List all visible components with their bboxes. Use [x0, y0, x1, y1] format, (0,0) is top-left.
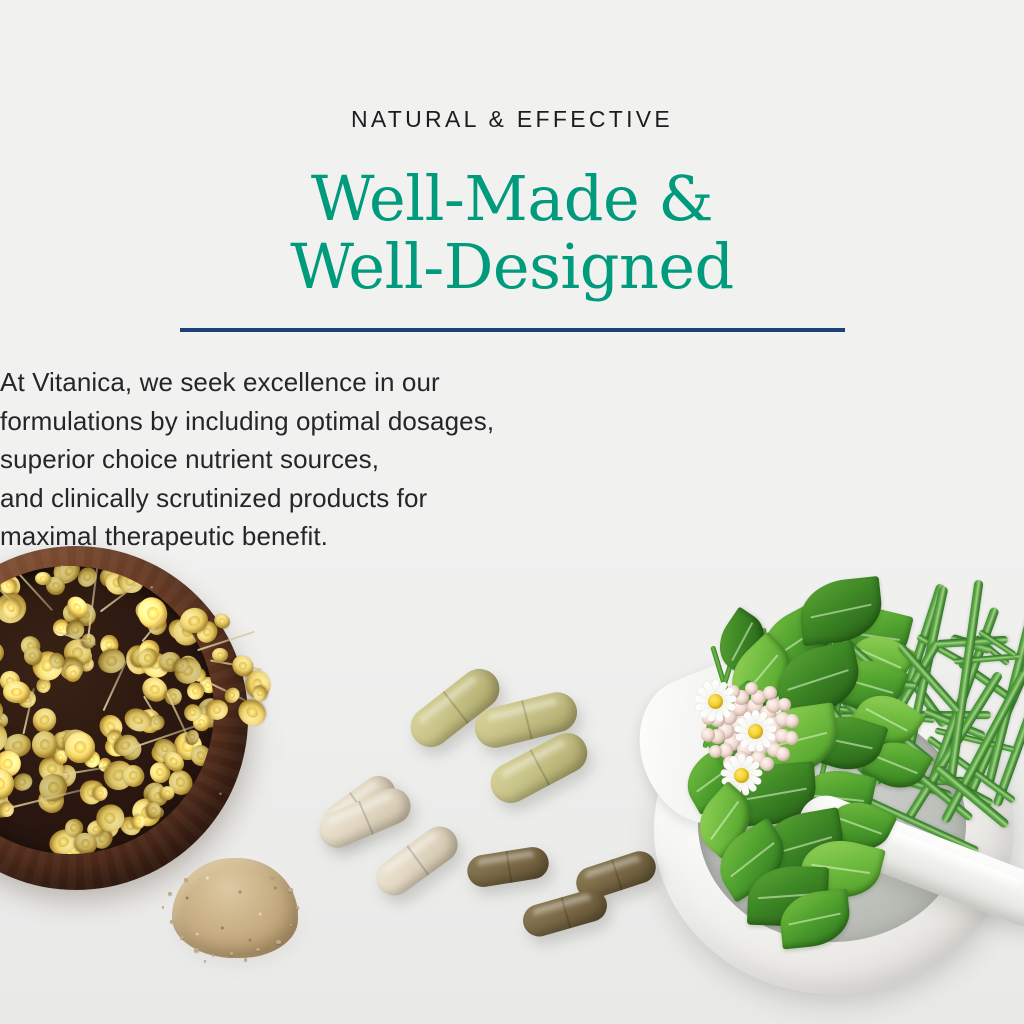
capsule-seam	[530, 749, 551, 785]
capsule-seam	[521, 700, 533, 739]
powder-crumb	[162, 906, 164, 908]
powder-crumb	[204, 960, 206, 962]
brand-banner: NATURAL & EFFECTIVE Well-Made & Well-Des…	[0, 0, 1024, 1024]
page-title: Well-Made & Well-Designed	[0, 165, 1024, 301]
flower-floret	[778, 698, 792, 712]
horizontal-rule-divider	[180, 328, 845, 332]
leaf-vein	[710, 800, 739, 839]
leaf-vein	[810, 603, 871, 617]
leaf-vein	[838, 817, 881, 834]
herbal-powder-pile	[160, 848, 312, 966]
chamomile-flower	[95, 645, 128, 676]
chamomile-flower	[0, 639, 8, 668]
powder-crumb	[170, 920, 173, 923]
flower-floret	[785, 714, 799, 728]
powder-crumb	[244, 958, 247, 961]
leaf-vein	[876, 756, 917, 774]
powder-crumb	[230, 952, 233, 955]
mortar-and-pestle	[640, 556, 1024, 1024]
capsule-seam	[406, 845, 429, 875]
powder-crumb	[290, 924, 292, 926]
powder-crumb	[296, 906, 299, 909]
chamomile-flower	[2, 681, 30, 704]
flower-floret	[785, 731, 799, 745]
capsule-seam	[505, 851, 512, 883]
capsule-seam	[561, 897, 572, 928]
daisy-center	[708, 694, 723, 709]
chamomile-flower	[0, 801, 15, 819]
eyebrow-text: NATURAL & EFFECTIVE	[0, 108, 1024, 131]
daisy-center	[734, 768, 749, 783]
leaf-vein	[789, 912, 841, 925]
product-photography	[0, 0, 1024, 1024]
capsule-seam	[358, 801, 374, 835]
daisy-center	[748, 724, 763, 739]
headline-line-2: Well-Designed	[0, 233, 1024, 301]
flower-floret	[701, 728, 715, 742]
headline-line-1: Well-Made &	[0, 165, 1024, 233]
chamomile-flower	[24, 646, 42, 665]
flower-floret	[763, 686, 777, 700]
powder-crumb	[212, 954, 214, 956]
chamomile-flower	[183, 704, 200, 722]
capsule-seam	[611, 859, 623, 890]
capsule-seam	[443, 691, 469, 724]
daisy-flower	[732, 708, 778, 754]
